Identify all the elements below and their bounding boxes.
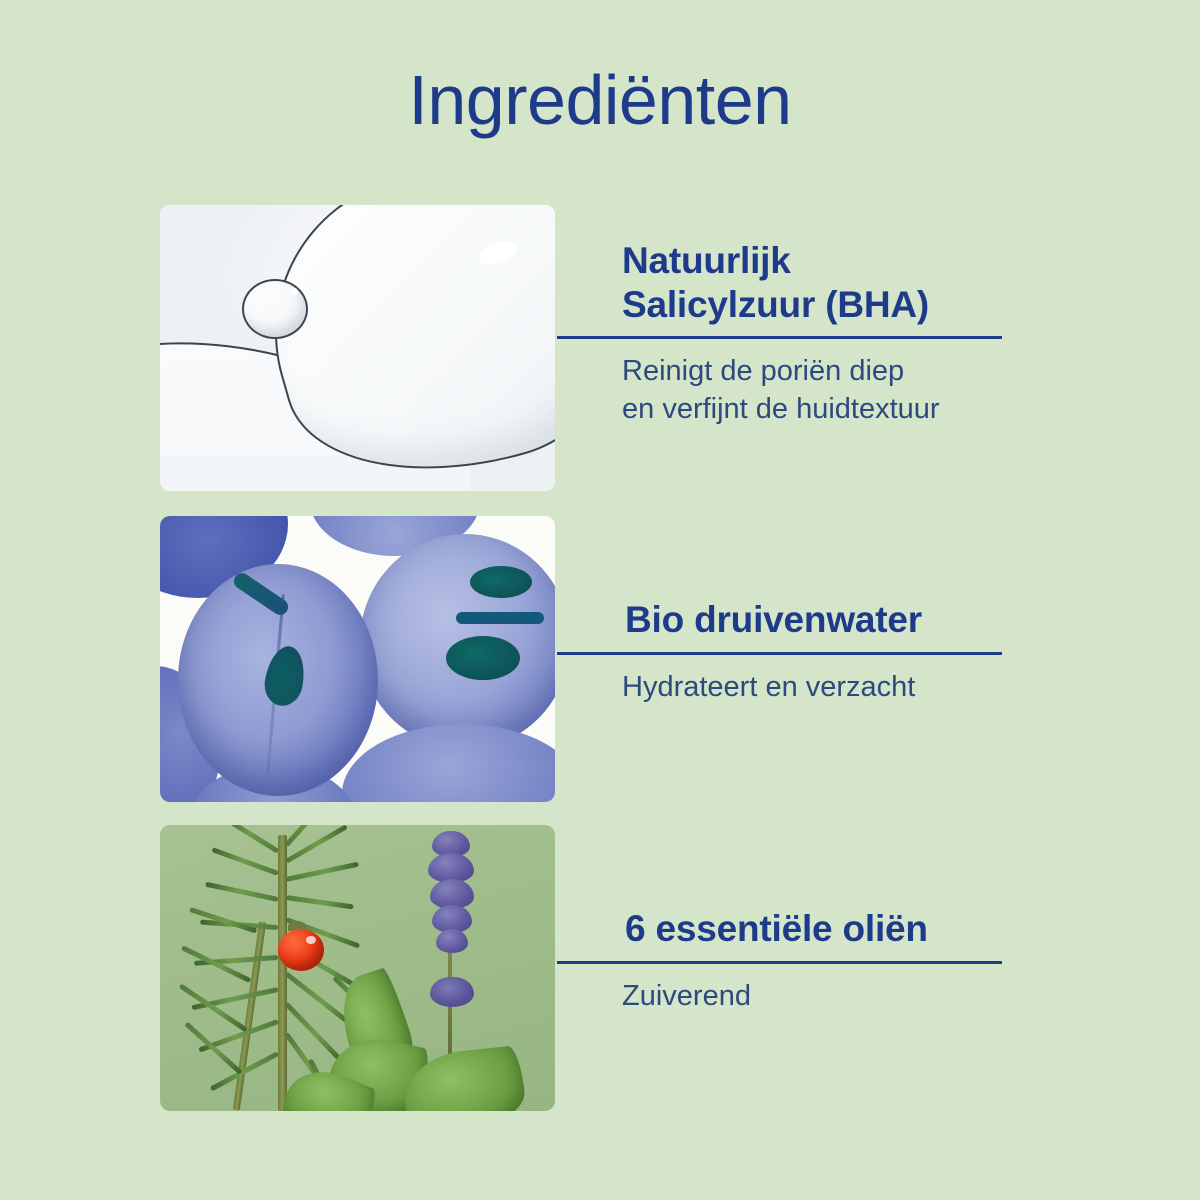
- grape-bottom: [342, 724, 555, 802]
- ingredient-title: Bio druivenwater: [557, 598, 1007, 642]
- grape-main-half: [178, 564, 378, 796]
- rosemary-needle: [205, 882, 278, 902]
- lavender-bud-lower: [430, 977, 474, 1007]
- grapes-scene: [160, 516, 555, 802]
- gel-scene: [160, 205, 555, 491]
- ingredient-text-column: Bio druivenwater Hydrateert en verzacht: [557, 516, 1007, 802]
- gel-small-droplet: [242, 279, 308, 339]
- ingredient-title: 6 essentiële oliën: [557, 907, 1007, 951]
- rosemary-needle: [224, 825, 279, 854]
- ingredient-text-column: Natuurlijk Salicylzuur (BHA) Reinigt de …: [557, 205, 1007, 491]
- grape-seed: [470, 566, 532, 598]
- ingredient-image-herbs-rosemary-lavender-mint-photo: [160, 825, 555, 1111]
- ingredient-image-blue-grapes-photo: [160, 516, 555, 802]
- rosemary-needle: [184, 1022, 242, 1075]
- rosemary-needle: [285, 862, 358, 882]
- ingredient-row: Natuurlijk Salicylzuur (BHA) Reinigt de …: [0, 205, 1200, 491]
- ingredient-text-column: 6 essentiële oliën Zuiverend: [557, 825, 1007, 1111]
- grape-right-half: [360, 534, 555, 749]
- page-title: Ingrediënten: [0, 64, 1200, 138]
- rosemary-needle: [286, 895, 354, 909]
- rosemary-needle: [211, 847, 278, 876]
- ingredient-image-clear-gel-droplets-photo: [160, 205, 555, 491]
- lavender-bud: [436, 929, 468, 953]
- grape-seed: [261, 643, 309, 709]
- ingredient-divider: [557, 961, 1002, 964]
- red-berry: [278, 929, 324, 971]
- ingredient-divider: [557, 652, 1002, 655]
- herbs-scene: [160, 825, 555, 1111]
- ingredient-row: Bio druivenwater Hydrateert en verzacht: [0, 516, 1200, 802]
- grape-seed: [456, 612, 544, 624]
- lavender-flower-head: [428, 831, 474, 959]
- ingredient-description: Hydrateert en verzacht: [557, 669, 1007, 707]
- ingredient-row: 6 essentiële oliën Zuiverend: [0, 825, 1200, 1111]
- ingredient-description: Reinigt de poriën diep en verfijnt de hu…: [557, 353, 1007, 428]
- rosemary-stem: [233, 921, 266, 1110]
- ingredients-page: Ingrediënten Natuurlijk Salicylzuur (BHA…: [0, 0, 1200, 1200]
- rosemary-needle: [181, 945, 252, 983]
- ingredient-title: Natuurlijk Salicylzuur (BHA): [557, 239, 1007, 326]
- grape-seed: [446, 636, 520, 680]
- ingredient-description: Zuiverend: [557, 978, 1007, 1016]
- ingredient-divider: [557, 336, 1002, 339]
